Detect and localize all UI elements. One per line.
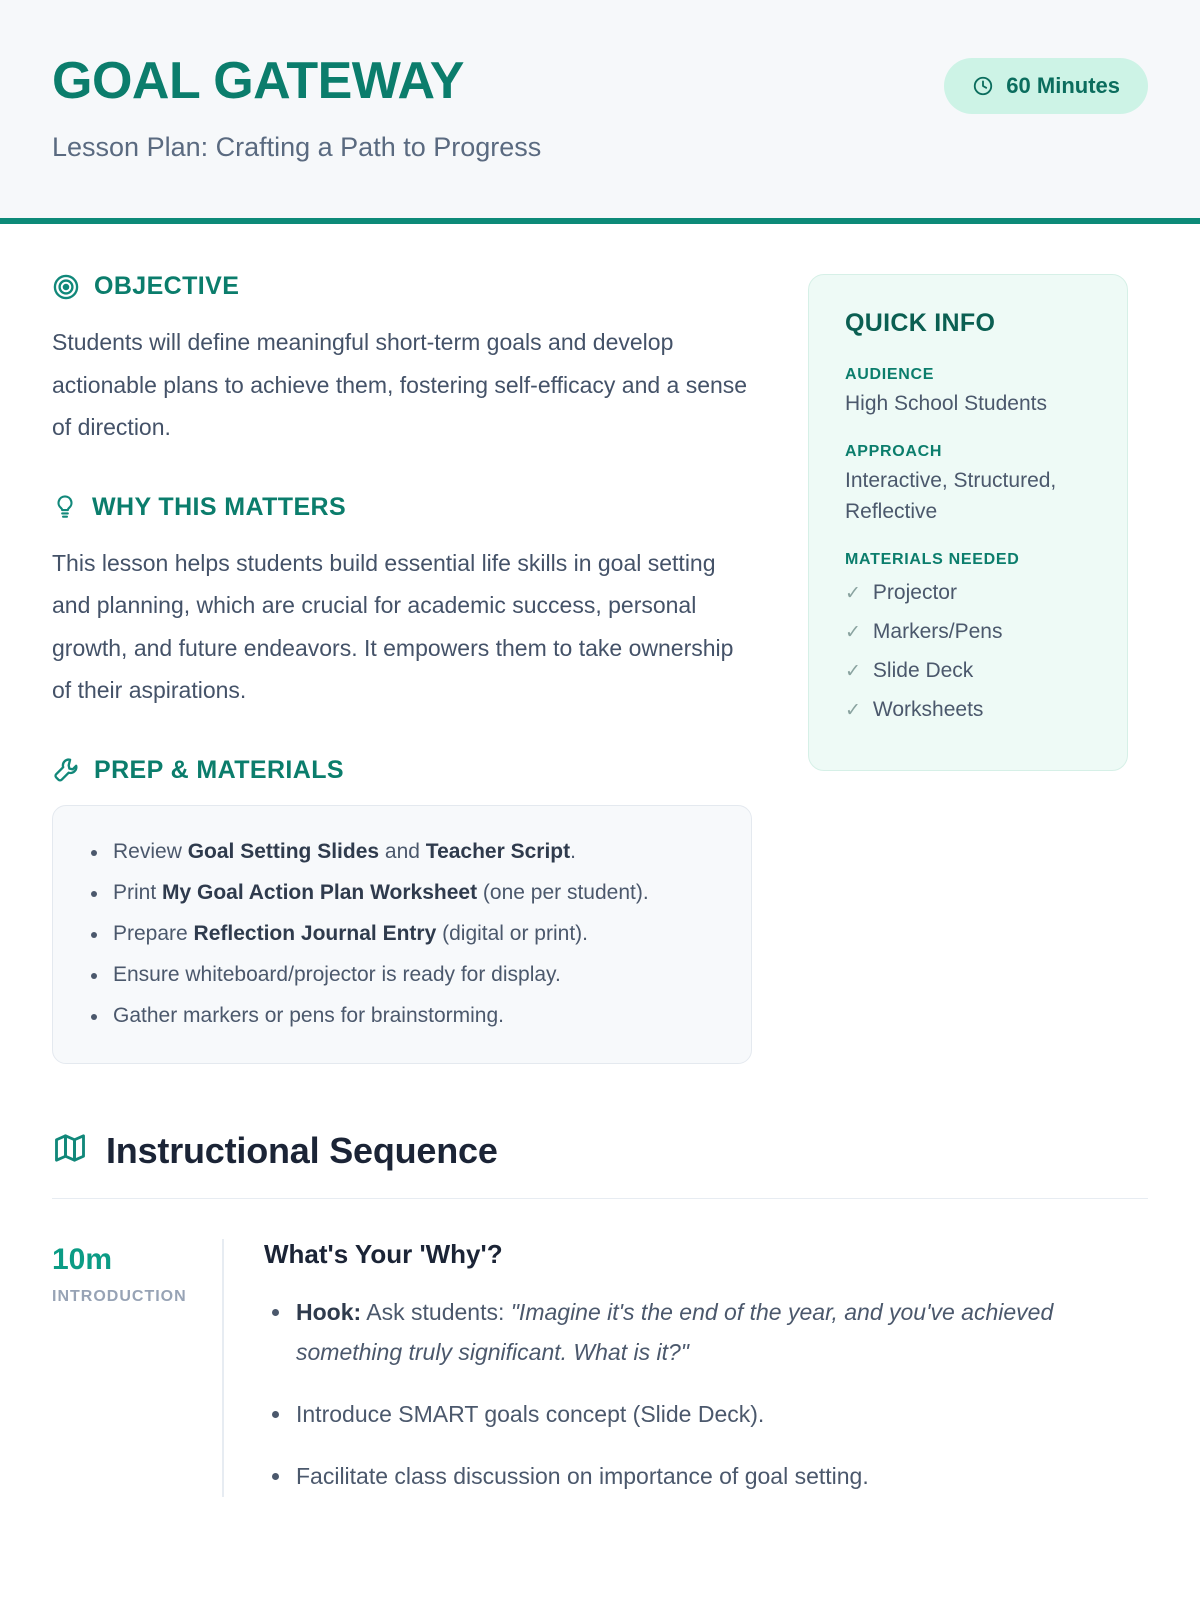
- sequence-heading: Instructional Sequence: [52, 1130, 1148, 1172]
- objective-heading: OBJECTIVE: [52, 272, 752, 301]
- sequence-divider: [52, 1198, 1148, 1199]
- step-bullet-list: Hook: Ask students: "Imagine it's the en…: [264, 1292, 1148, 1497]
- prep-list-item: Print My Goal Action Plan Worksheet (one…: [83, 873, 721, 914]
- approach-group: APPROACH Interactive, Structured, Reflec…: [845, 443, 1091, 527]
- quick-info-card: QUICK INFO AUDIENCE High School Students…: [808, 274, 1128, 771]
- why-section: WHY THIS MATTERS This lesson helps stude…: [52, 493, 752, 712]
- step-duration: 10m: [52, 1243, 222, 1276]
- audience-label: AUDIENCE: [845, 366, 1091, 384]
- quick-info-title: QUICK INFO: [845, 309, 1091, 338]
- objective-title: OBJECTIVE: [94, 272, 239, 301]
- prep-box: Review Goal Setting Slides and Teacher S…: [52, 805, 752, 1064]
- material-item: ✓Projector: [845, 574, 1091, 613]
- check-icon: ✓: [845, 584, 861, 603]
- prep-title: PREP & MATERIALS: [94, 756, 344, 785]
- material-item: ✓Worksheets: [845, 691, 1091, 730]
- sequence-title: Instructional Sequence: [106, 1130, 498, 1172]
- side-column: QUICK INFO AUDIENCE High School Students…: [808, 272, 1128, 771]
- audience-value: High School Students: [845, 389, 1091, 419]
- material-item: ✓Markers/Pens: [845, 613, 1091, 652]
- target-icon: [52, 273, 80, 301]
- check-icon: ✓: [845, 662, 861, 681]
- approach-value: Interactive, Structured, Reflective: [845, 466, 1091, 527]
- step-time-column: 10mINTRODUCTION: [52, 1239, 222, 1306]
- prep-list-item: Prepare Reflection Journal Entry (digita…: [83, 914, 721, 955]
- step-body: What's Your 'Why'?Hook: Ask students: "I…: [224, 1239, 1148, 1497]
- audience-group: AUDIENCE High School Students: [845, 366, 1091, 419]
- wrench-icon: [52, 756, 80, 784]
- why-text: This lesson helps students build essenti…: [52, 542, 752, 712]
- sequence-steps: 10mINTRODUCTIONWhat's Your 'Why'?Hook: A…: [52, 1239, 1148, 1497]
- document-header: GOAL GATEWAY Lesson Plan: Crafting a Pat…: [0, 0, 1200, 224]
- prep-list-item: Review Goal Setting Slides and Teacher S…: [83, 832, 721, 873]
- instructional-sequence-section: Instructional Sequence 10mINTRODUCTIONWh…: [52, 1104, 1148, 1497]
- why-title: WHY THIS MATTERS: [92, 493, 346, 522]
- approach-label: APPROACH: [845, 443, 1091, 461]
- prep-list: Review Goal Setting Slides and Teacher S…: [83, 832, 721, 1037]
- page-subtitle: Lesson Plan: Crafting a Path to Progress: [52, 131, 541, 163]
- prep-list-item: Gather markers or pens for brainstorming…: [83, 996, 721, 1037]
- duration-label: 60 Minutes: [1006, 73, 1120, 99]
- prep-section: PREP & MATERIALS Review Goal Setting Sli…: [52, 756, 752, 1064]
- prep-heading: PREP & MATERIALS: [52, 756, 752, 785]
- content-columns: OBJECTIVE Students will define meaningfu…: [52, 224, 1148, 1104]
- map-icon: [52, 1130, 88, 1171]
- material-item: ✓Slide Deck: [845, 652, 1091, 691]
- lesson-plan-document: GOAL GATEWAY Lesson Plan: Crafting a Pat…: [0, 0, 1200, 1600]
- material-label: Projector: [873, 574, 957, 613]
- objective-text: Students will define meaningful short-te…: [52, 321, 752, 449]
- step-activity-title: What's Your 'Why'?: [264, 1239, 1148, 1270]
- header-title-group: GOAL GATEWAY Lesson Plan: Crafting a Pat…: [52, 48, 541, 163]
- objective-section: OBJECTIVE Students will define meaningfu…: [52, 272, 752, 449]
- materials-label: MATERIALS NEEDED: [845, 551, 1091, 569]
- materials-group: MATERIALS NEEDED ✓Projector✓Markers/Pens…: [845, 551, 1091, 729]
- materials-list: ✓Projector✓Markers/Pens✓Slide Deck✓Works…: [845, 574, 1091, 729]
- step-bullet: Introduce SMART goals concept (Slide Dec…: [264, 1394, 1148, 1434]
- document-body: OBJECTIVE Students will define meaningfu…: [0, 224, 1200, 1497]
- step-bullet: Hook: Ask students: "Imagine it's the en…: [264, 1292, 1148, 1373]
- page-title: GOAL GATEWAY: [52, 54, 541, 109]
- material-label: Markers/Pens: [873, 613, 1003, 652]
- check-icon: ✓: [845, 623, 861, 642]
- step-phase-label: INTRODUCTION: [52, 1288, 222, 1306]
- clock-icon: [972, 75, 994, 97]
- prep-list-item: Ensure whiteboard/projector is ready for…: [83, 955, 721, 996]
- material-label: Worksheets: [873, 691, 984, 730]
- check-icon: ✓: [845, 701, 861, 720]
- step-bullet: Facilitate class discussion on importanc…: [264, 1456, 1148, 1496]
- duration-badge: 60 Minutes: [944, 58, 1148, 114]
- why-heading: WHY THIS MATTERS: [52, 493, 752, 522]
- sequence-step: 10mINTRODUCTIONWhat's Your 'Why'?Hook: A…: [52, 1239, 1148, 1497]
- material-label: Slide Deck: [873, 652, 973, 691]
- lightbulb-icon: [52, 493, 78, 521]
- main-column: OBJECTIVE Students will define meaningfu…: [52, 272, 752, 1104]
